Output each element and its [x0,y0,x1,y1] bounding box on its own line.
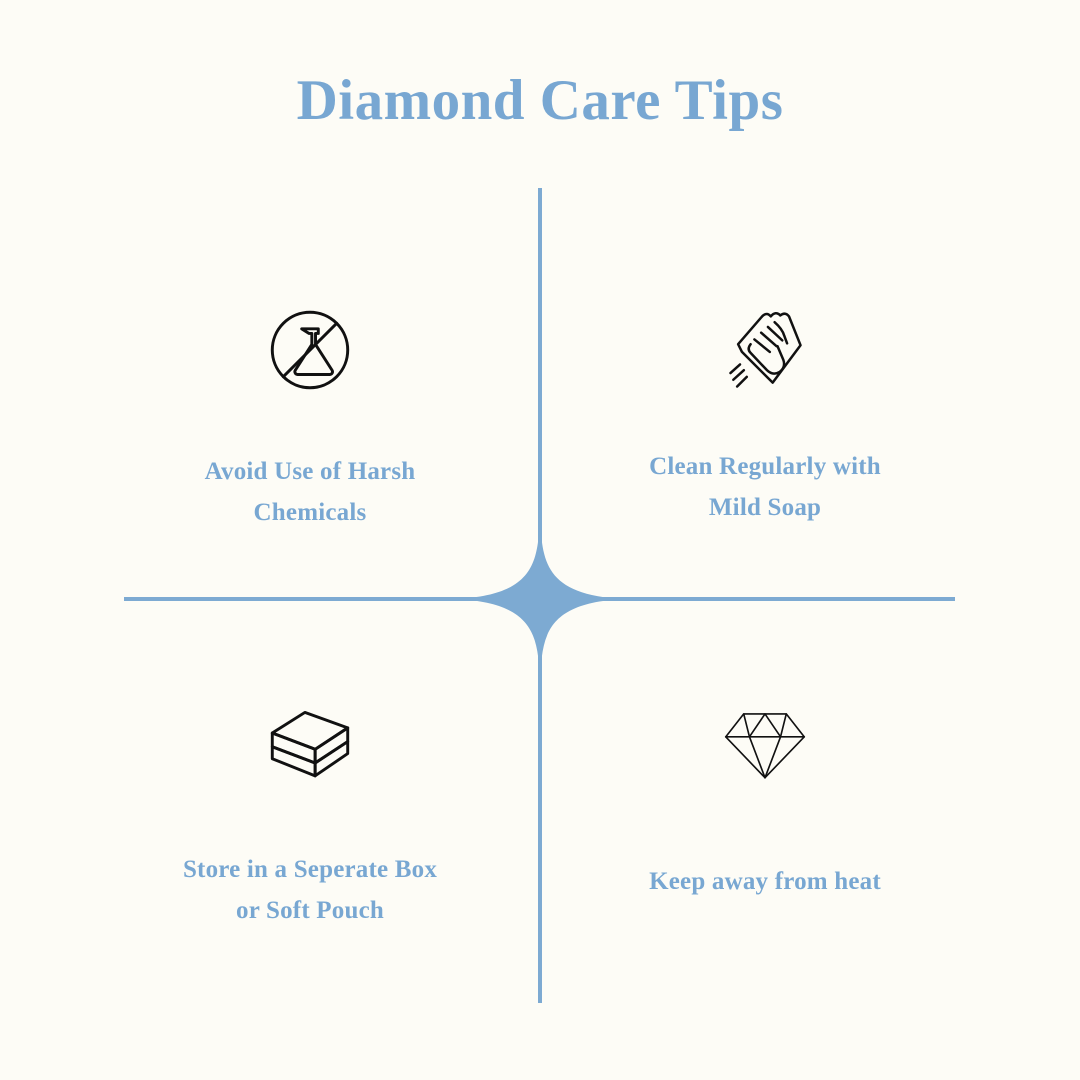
no-chemicals-flask-icon [90,290,530,410]
infographic-canvas: Diamond Care Tips Avoid Use of Harsh Che… [0,0,1080,1080]
tip-label-line1: Avoid Use of Harsh [90,452,530,493]
tip-card-clean-regularly: Clean Regularly with Mild Soap [545,290,985,528]
tip-label-line1: Store in a Seperate Box [90,850,530,891]
tip-label: Keep away from heat [545,862,985,903]
tip-label-line2: Chemicals [90,493,530,534]
tip-card-keep-away-from-heat: Keep away from heat [545,695,985,903]
tip-card-store-separately: Store in a Seperate Box or Soft Pouch [90,695,530,931]
page-title: Diamond Care Tips [0,68,1080,133]
hand-wiping-cloth-icon [545,290,985,410]
tip-label-line1: Keep away from heat [545,862,985,903]
diamond-gem-icon [545,695,985,795]
tip-label: Store in a Seperate Box or Soft Pouch [90,850,530,931]
tip-label-line2: or Soft Pouch [90,891,530,932]
storage-box-icon [90,695,530,795]
four-point-sparkle-icon [456,515,624,683]
tip-card-avoid-harsh-chemicals: Avoid Use of Harsh Chemicals [90,290,530,533]
tip-label: Clean Regularly with Mild Soap [545,447,985,528]
tip-label-line2: Mild Soap [545,488,985,529]
tip-label: Avoid Use of Harsh Chemicals [90,452,530,533]
tip-label-line1: Clean Regularly with [545,447,985,488]
